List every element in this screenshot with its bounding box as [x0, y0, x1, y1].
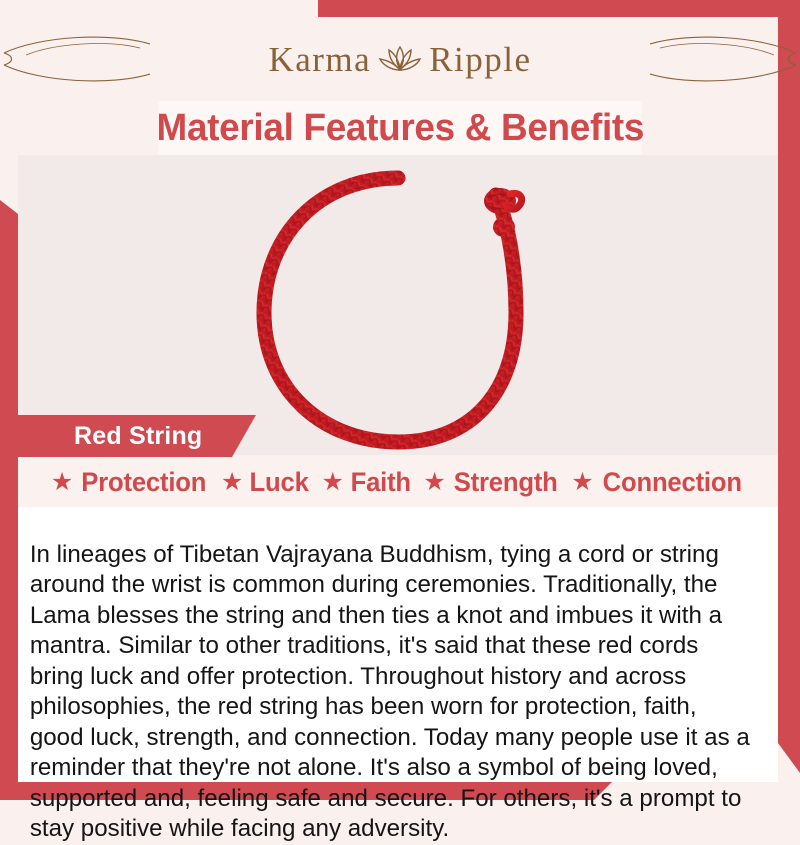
brand-logo: Karma Ripple: [0, 24, 800, 94]
benefit-item-protection: ★ Protection: [51, 467, 210, 498]
frame-band-top: [318, 0, 800, 17]
benefits-list: ★ Protection ★ Luck ★ Faith ★ Strength ★…: [18, 457, 778, 507]
benefit-label: Strength: [454, 467, 558, 498]
frame-band-right-lower: [778, 478, 800, 773]
star-icon: ★: [51, 470, 73, 495]
material-name-label: Red String: [18, 422, 202, 451]
page-title: Material Features & Benefits: [156, 107, 644, 150]
benefit-label: Luck: [250, 467, 309, 498]
benefit-item-strength: ★ Strength: [423, 467, 560, 498]
star-icon: ★: [321, 470, 343, 495]
red-string-bracelet-image: [248, 165, 548, 455]
star-icon: ★: [221, 470, 243, 495]
brand-name-first: Karma: [268, 42, 371, 77]
benefit-item-luck: ★ Luck: [221, 467, 311, 498]
benefit-label: Faith: [350, 467, 410, 498]
frame-band-left: [0, 200, 18, 798]
description-panel: In lineages of Tibetan Vajrayana Buddhis…: [18, 507, 778, 782]
benefit-item-faith: ★ Faith: [321, 467, 412, 498]
star-icon: ★: [423, 470, 445, 495]
benefit-label: Protection: [82, 467, 207, 498]
infographic-poster: Karma Ripple: [0, 0, 800, 800]
brand-name-second: Ripple: [429, 42, 531, 77]
lotus-flower-icon: [377, 39, 423, 79]
benefit-label: Connection: [602, 467, 741, 498]
flourish-left-icon: [0, 36, 150, 82]
flourish-right-icon: [650, 36, 800, 82]
bracelet-knot: [484, 188, 522, 237]
star-icon: ★: [571, 470, 593, 495]
product-photo-panel: [18, 155, 778, 455]
description-text: In lineages of Tibetan Vajrayana Buddhis…: [18, 532, 767, 845]
benefit-item-connection: ★ Connection: [571, 467, 745, 498]
page-title-band: Material Features & Benefits: [158, 101, 642, 155]
material-name-tag: Red String: [18, 415, 256, 457]
